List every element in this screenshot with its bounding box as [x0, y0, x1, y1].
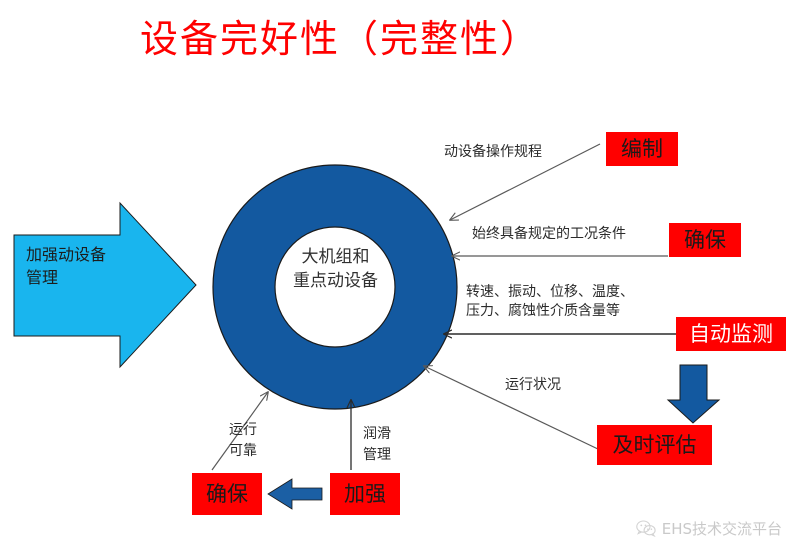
badge-monitoring[interactable]: 自动监测 [676, 317, 786, 351]
caption-monitoring: 转速、振动、位移、温度、 压力、腐蚀性介质含量等 [466, 283, 634, 321]
footer-watermark: EHS技术交流平台 [636, 518, 782, 539]
flow-arrow-left [268, 479, 322, 509]
caption-evaluation: 运行状况 [505, 376, 561, 395]
badge-operating-conditions[interactable]: 确保 [669, 223, 741, 257]
flow-arrow-down [668, 365, 719, 423]
badge-procedure[interactable]: 编制 [606, 132, 678, 166]
badge-reliability[interactable]: 确保 [192, 473, 262, 515]
badge-evaluation[interactable]: 及时评估 [597, 425, 712, 465]
intake-arrow-label: 加强动设备 管理 [26, 243, 166, 289]
wechat-icon [636, 520, 656, 537]
caption-procedure: 动设备操作规程 [444, 143, 542, 162]
footer-text: EHS技术交流平台 [662, 518, 782, 539]
slide-canvas: 设备完好性（完整性） [0, 0, 798, 547]
caption-lubrication: 润滑 管理 [363, 424, 391, 466]
caption-reliability: 运行 可靠 [229, 420, 257, 462]
caption-operating-conditions: 始终具备规定的工况条件 [472, 225, 626, 244]
center-circle-label: 大机组和 重点动设备 [258, 245, 413, 293]
badge-lubrication[interactable]: 加强 [330, 473, 400, 515]
